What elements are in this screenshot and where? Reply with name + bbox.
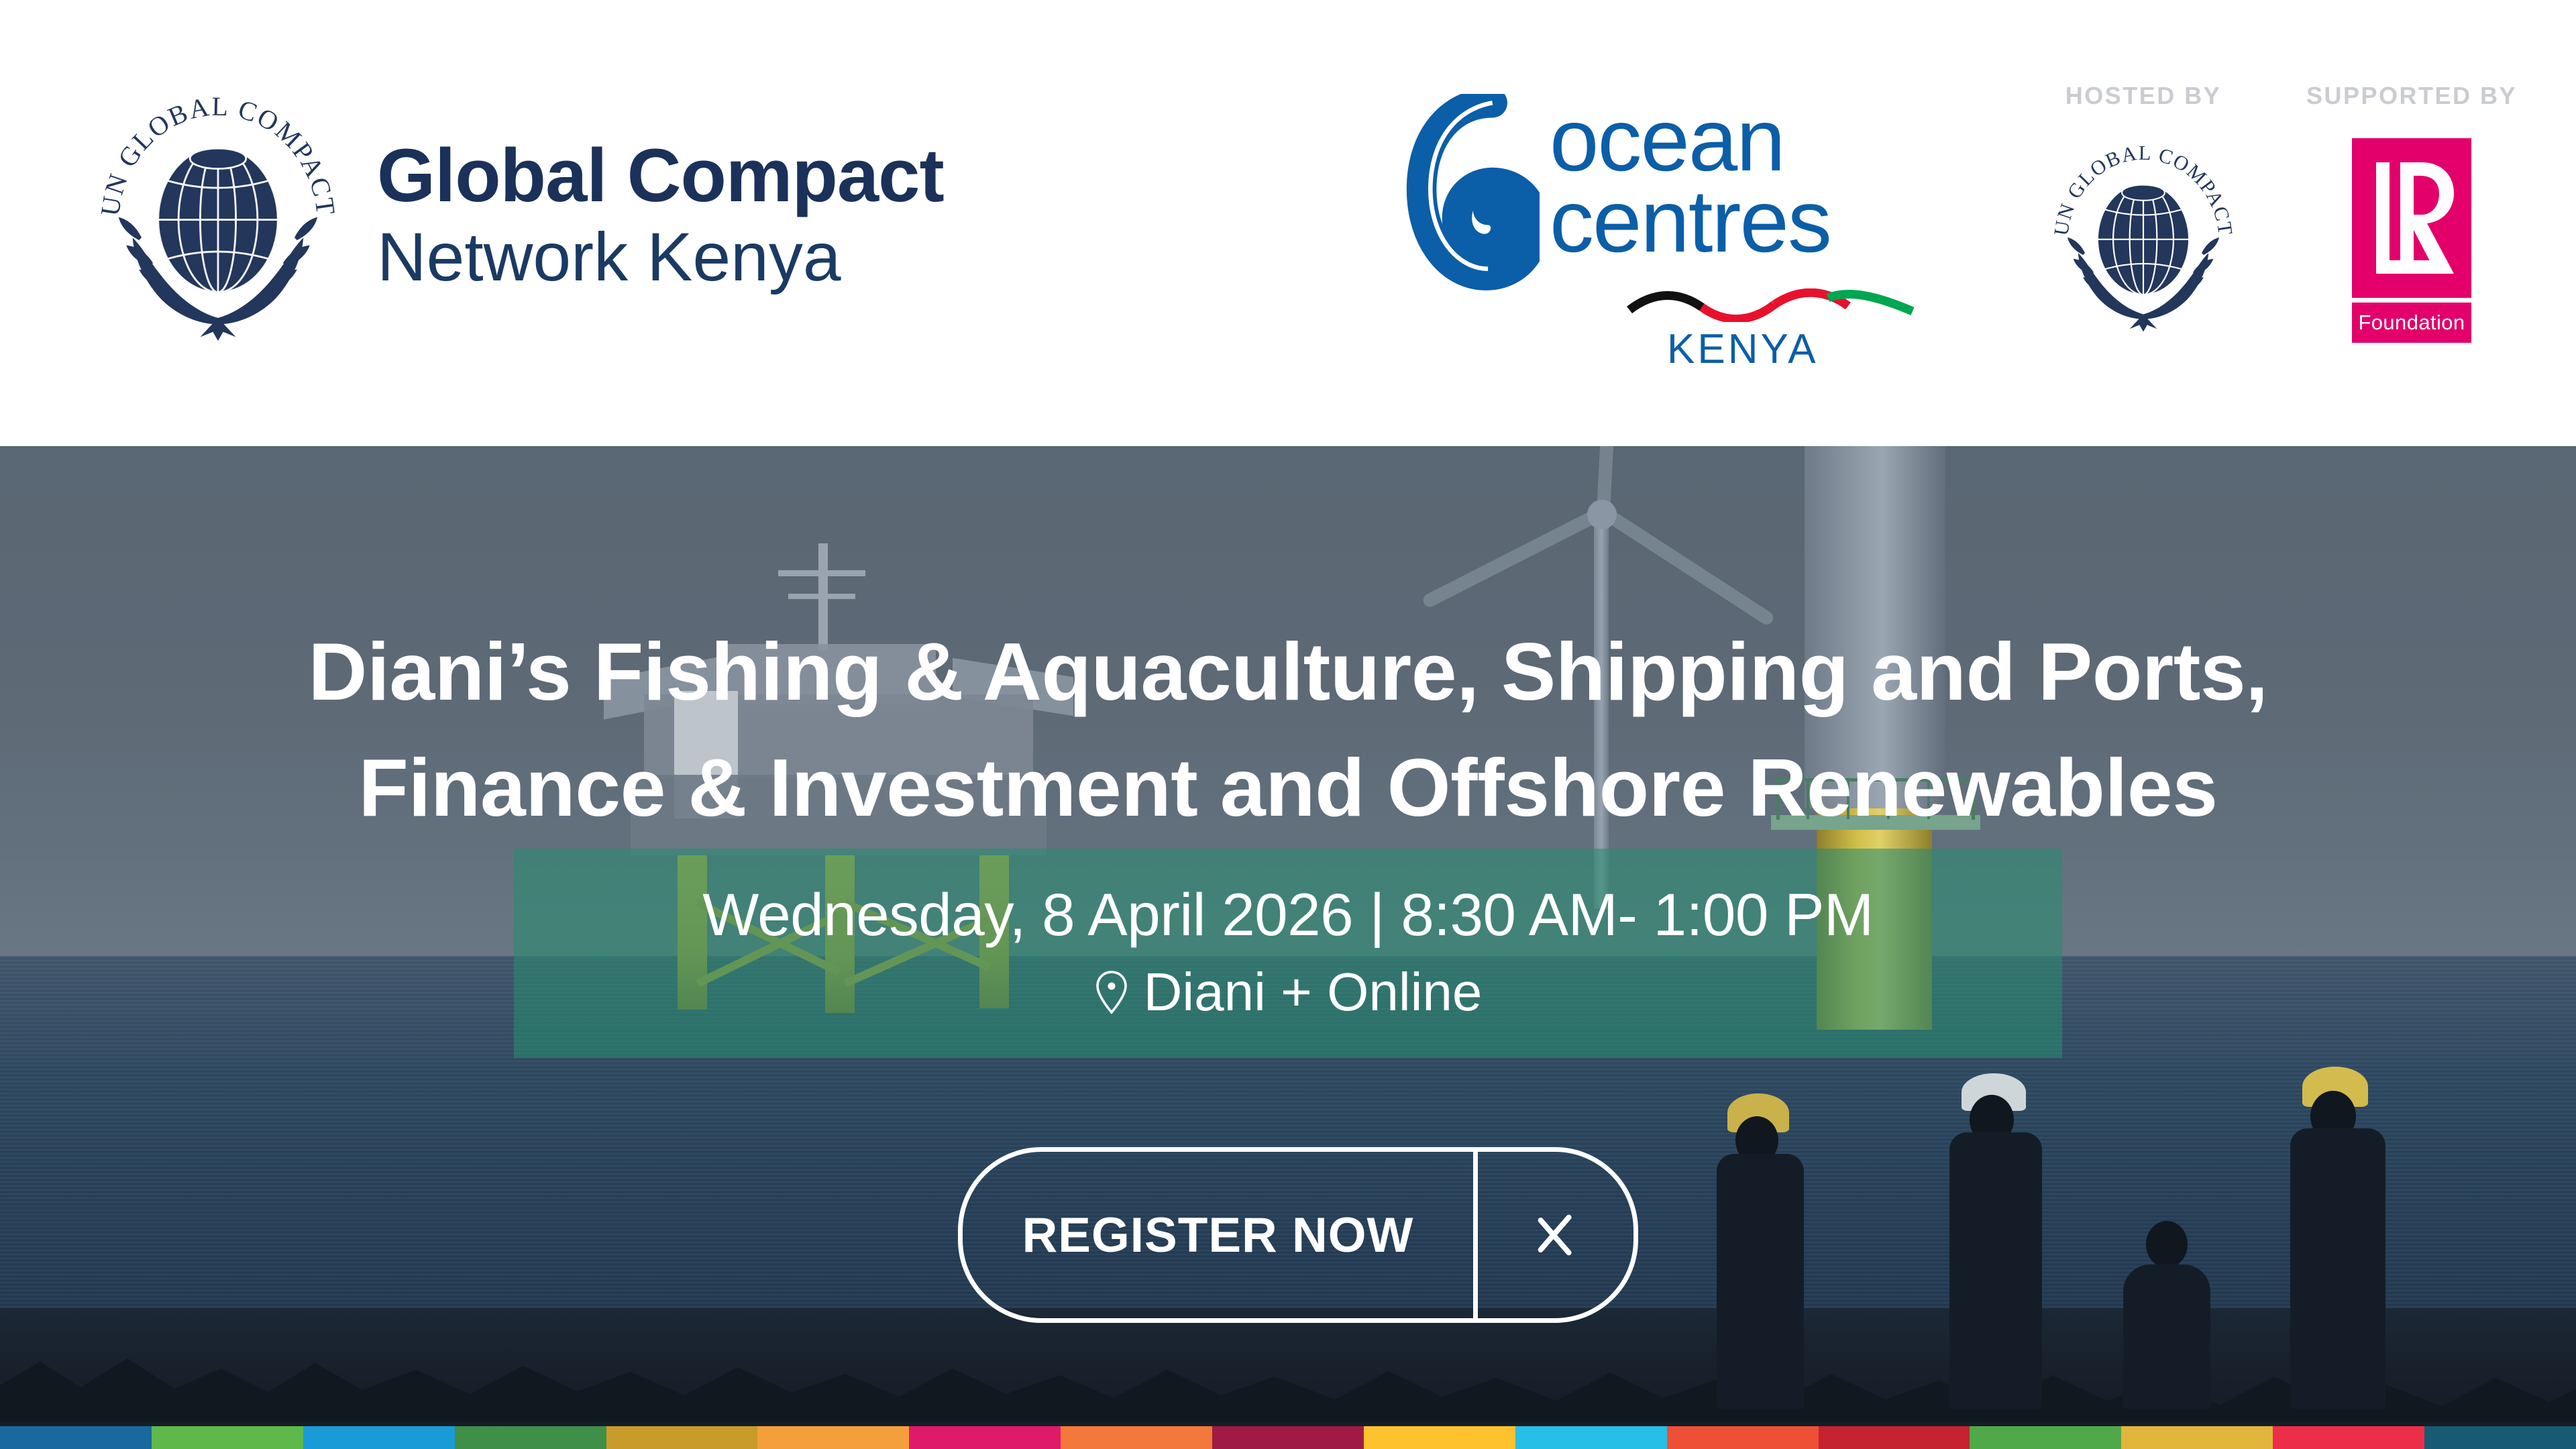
sdg-color-block (455, 1426, 606, 1449)
register-now-label: REGISTER NOW (963, 1152, 1473, 1318)
sdg-color-block (1819, 1426, 1970, 1449)
lr-foundation-sublabel-bar: Foundation (2352, 303, 2471, 343)
person-head (2146, 1221, 2188, 1268)
page-title-line2: Finance & Investment and Offshore Renewa… (0, 730, 2576, 846)
worker-silhouette (1939, 1073, 2053, 1409)
worker-body (1949, 1132, 2042, 1409)
supported-by-label: SUPPORTED BY (2277, 82, 2546, 110)
sdg-color-block (2273, 1426, 2424, 1449)
event-details: Wednesday, 8 April 2026 | 8:30 AM- 1:00 … (514, 849, 2062, 1058)
sdg-color-stripe (0, 1426, 2576, 1449)
sdg-color-block (152, 1426, 303, 1449)
supported-by-block: SUPPORTED BY Foundation (2277, 82, 2546, 343)
sdg-color-block (0, 1426, 152, 1449)
sdg-color-block (303, 1426, 455, 1449)
gcnk-wordmark: Global Compact Network Kenya (377, 138, 944, 291)
sdg-color-block (1667, 1426, 1819, 1449)
sdg-color-block (1061, 1426, 1212, 1449)
ocean-centres-word1: ocean (1550, 99, 1831, 180)
worker-body (1717, 1154, 1804, 1409)
lr-monogram-box (2352, 138, 2471, 298)
lr-foundation-sublabel: Foundation (2358, 311, 2465, 335)
sdg-color-block (909, 1426, 1061, 1449)
worker-body (2290, 1128, 2385, 1409)
un-global-compact-emblem: UN GLOBAL COMPACT (87, 87, 349, 342)
ocean-centres-logo[interactable]: ocean centres KENYA (1405, 87, 1875, 356)
hero-section: Diani’s Fishing & Aquaculture, Shipping … (0, 446, 2576, 1449)
person-body (2123, 1265, 2210, 1409)
sdg-color-block (2424, 1426, 2576, 1449)
header-bar: UN GLOBAL COMPACT (0, 0, 2576, 446)
ocean-centres-spiral-mark (1405, 94, 1540, 315)
sdg-color-block (1515, 1426, 1667, 1449)
sdg-color-block (757, 1426, 909, 1449)
hosted-by-logo[interactable]: UN GLOBAL COMPACT (2009, 138, 2277, 333)
worker-silhouette (2281, 1067, 2395, 1409)
gcnk-line2: Network Kenya (377, 223, 944, 291)
event-datetime: Wednesday, 8 April 2026 | 8:30 AM- 1:00 … (702, 883, 1873, 946)
ocean-centres-country: KENYA (1667, 325, 1819, 373)
ocean-centres-word2: centres (1550, 180, 1831, 262)
map-pin-icon (1094, 970, 1129, 1014)
gcnk-line1: Global Compact (377, 138, 944, 213)
event-location-text: Diani + Online (1144, 961, 1483, 1023)
hosted-by-block: HOSTED BY UN GLOBAL COMPACT (2009, 82, 2277, 333)
sdg-color-block (1970, 1426, 2121, 1449)
gcnk-logo[interactable]: UN GLOBAL COMPACT (87, 87, 944, 342)
register-button-divider (1473, 1152, 1478, 1318)
event-banner-page: UN GLOBAL COMPACT (0, 0, 2576, 1449)
supported-by-logo[interactable]: Foundation (2277, 138, 2546, 343)
sdg-color-block (2121, 1426, 2273, 1449)
sdg-color-block (1212, 1426, 1364, 1449)
seated-person-silhouette (2116, 1221, 2217, 1409)
lr-foundation-logo: Foundation (2352, 138, 2471, 343)
page-title: Diani’s Fishing & Aquaculture, Shipping … (0, 446, 2576, 846)
kenya-flag-wave-icon (1627, 288, 1915, 322)
sdg-color-block (606, 1426, 758, 1449)
hosted-by-label: HOSTED BY (2009, 82, 2277, 110)
sdg-color-block (1364, 1426, 1515, 1449)
page-title-line1: Diani’s Fishing & Aquaculture, Shipping … (0, 614, 2576, 730)
event-location-row: Diani + Online (1094, 961, 1483, 1023)
un-global-compact-emblem: UN GLOBAL COMPACT (2043, 138, 2244, 333)
ocean-centres-wordmark: ocean centres (1550, 99, 1831, 262)
register-now-button[interactable]: REGISTER NOW (958, 1147, 1638, 1323)
worker-silhouette (1707, 1093, 1815, 1409)
chevron-right-icon[interactable] (1478, 1152, 1633, 1318)
